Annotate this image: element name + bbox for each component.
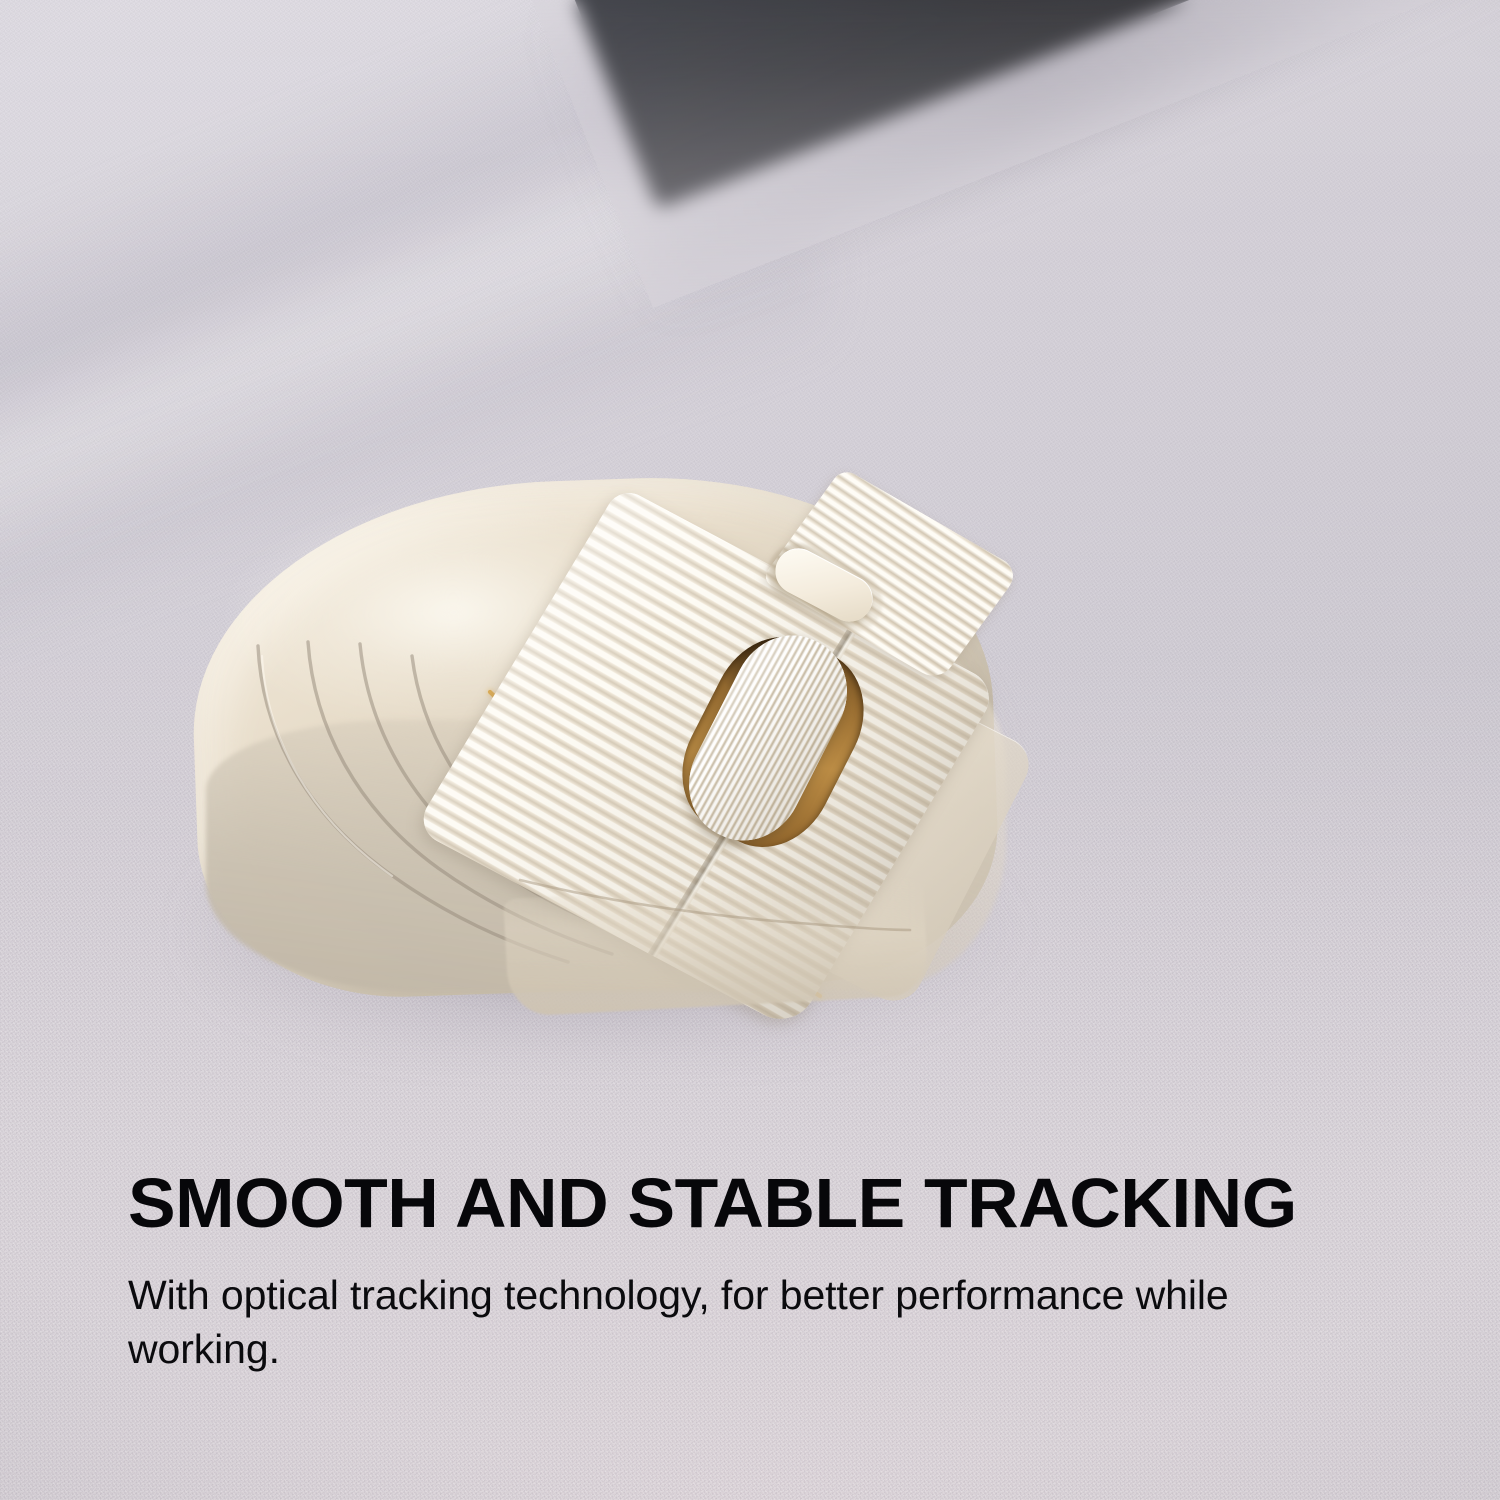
subheadline-text: With optical tracking technology, for be…: [128, 1268, 1388, 1376]
mouse-base-seam: [512, 870, 914, 940]
product-feature-card: SMOOTH AND STABLE TRACKING With optical …: [0, 0, 1500, 1500]
wireless-mouse: [176, 470, 1026, 1030]
caption-block: SMOOTH AND STABLE TRACKING With optical …: [128, 1168, 1428, 1376]
headline-text: SMOOTH AND STABLE TRACKING: [128, 1168, 1454, 1238]
